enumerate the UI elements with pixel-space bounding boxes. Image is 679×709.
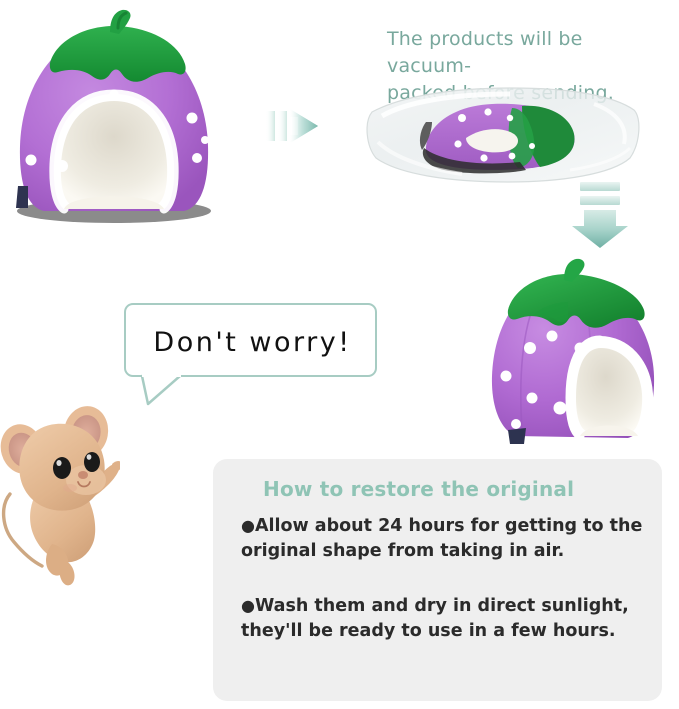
product-image-bed-restored [480,258,665,453]
speech-bubble: Don't worry! [124,303,377,377]
arrow-down-icon [568,178,632,252]
speech-bubble-text: Don't worry! [126,305,379,379]
speech-bubble-tail [140,374,184,406]
instruction-bullet-2: ●Wash them and dry in direct sunlight, t… [241,593,645,644]
instruction-text-1: Allow about 24 hours for getting to the … [241,516,642,561]
bullet-marker-1: ● [241,516,255,535]
infographic-canvas: The products will be vacuum- packed befo… [0,0,679,709]
headline-line-1: The products will be vacuum- [387,26,637,80]
instruction-text-2: Wash them and dry in direct sunlight, th… [241,596,629,641]
arrow-right-icon [262,95,324,157]
mouse-mascot-image [0,402,120,587]
bullet-marker-2: ● [241,596,255,615]
instruction-bullet-1: ●Allow about 24 hours for getting to the… [241,513,645,564]
restore-instructions-panel: How to restore the original ●Allow about… [213,459,662,701]
product-image-vacuum-pack [362,82,648,190]
panel-title: How to restore the original [263,477,643,501]
product-image-bed-front [6,8,221,228]
